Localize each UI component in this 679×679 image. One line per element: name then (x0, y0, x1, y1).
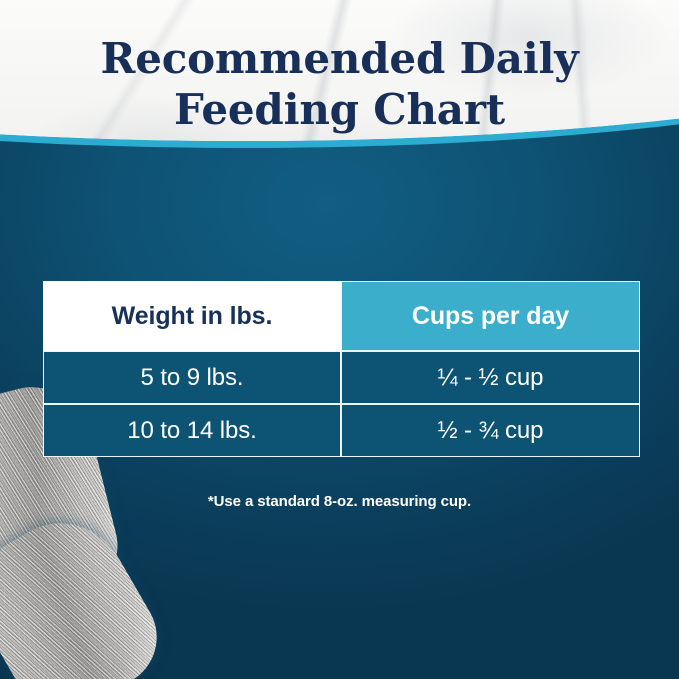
column-header-cups: Cups per day (341, 281, 640, 351)
cell-cups-row-2: ½ - ¾ cup (341, 404, 640, 457)
page-title-line-1: Recommended Daily (0, 33, 679, 84)
column-header-weight: Weight in lbs. (43, 281, 341, 351)
feeding-chart-page: Recommended Daily Feeding Chart Weight i… (0, 0, 679, 679)
cell-weight-row-2: 10 to 14 lbs. (43, 404, 341, 457)
table-row: 10 to 14 lbs. ½ - ¾ cup (43, 404, 640, 457)
table-row: 5 to 9 lbs. ¼ - ½ cup (43, 351, 640, 404)
cell-weight-row-1: 5 to 9 lbs. (43, 351, 341, 404)
footnote-text: *Use a standard 8-oz. measuring cup. (0, 493, 679, 510)
table-header-row: Weight in lbs. Cups per day (43, 281, 640, 351)
cell-cups-row-1: ¼ - ½ cup (341, 351, 640, 404)
page-title-line-2: Feeding Chart (0, 84, 679, 135)
page-title: Recommended Daily Feeding Chart (0, 33, 679, 135)
feeding-table: Weight in lbs. Cups per day 5 to 9 lbs. … (43, 281, 640, 457)
